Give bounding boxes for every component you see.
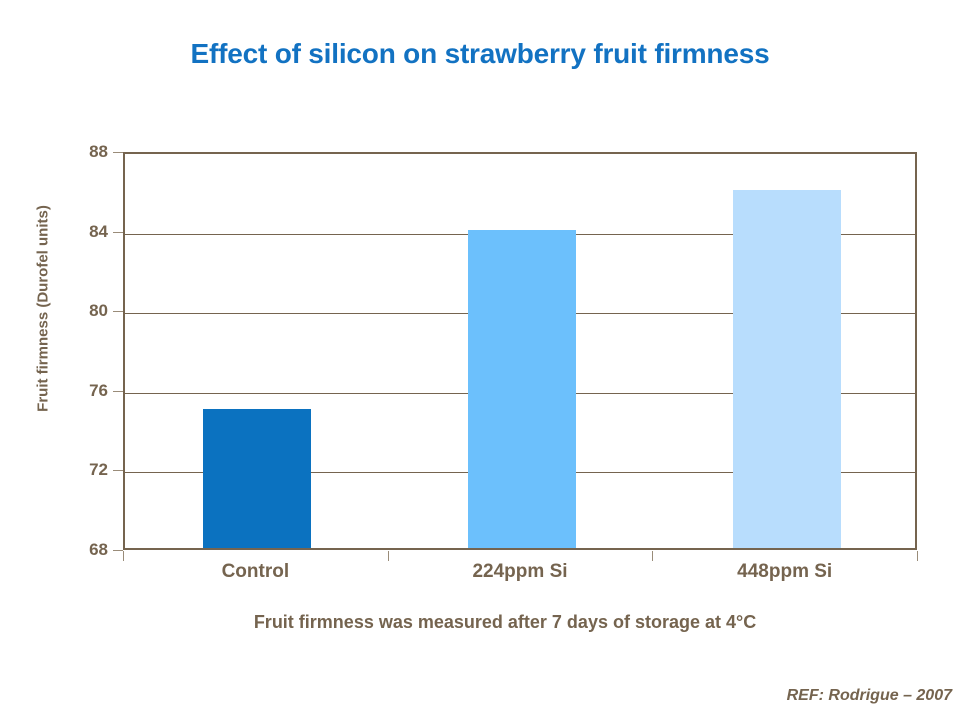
y-axis-tick-labels: 888480767268 [30, 152, 108, 550]
plot-area [123, 152, 917, 550]
y-axis-tick-label: 72 [66, 460, 108, 480]
y-axis-tick-mark [113, 391, 123, 392]
page-title: Effect of silicon on strawberry fruit fi… [0, 38, 960, 70]
x-axis-tick-mark [652, 551, 653, 561]
bar-224ppm-si[interactable] [468, 230, 576, 548]
y-axis-tick-label: 80 [66, 301, 108, 321]
x-axis-label-224ppm-si: 224ppm Si [388, 561, 653, 591]
y-axis-tick-label: 76 [66, 381, 108, 401]
x-axis-label-448ppm-si: 448ppm Si [652, 561, 917, 591]
y-axis-tick-mark [113, 470, 123, 471]
slide-canvas: Effect of silicon on strawberry fruit fi… [0, 0, 960, 720]
y-axis-tick-label: 68 [66, 540, 108, 560]
y-axis-tick-label: 84 [66, 222, 108, 242]
y-axis-tick-mark [113, 311, 123, 312]
bar-control[interactable] [203, 409, 311, 548]
x-axis-tick-mark [388, 551, 389, 561]
y-axis-tick-mark [113, 152, 123, 153]
bar-448ppm-si[interactable] [733, 190, 841, 548]
x-axis-tick-mark [123, 551, 124, 561]
x-axis-category-labels: Control224ppm Si448ppm Si [123, 561, 917, 591]
y-axis-tick-mark [113, 232, 123, 233]
x-axis-label-control: Control [123, 561, 388, 591]
y-axis-tick-mark [113, 550, 123, 551]
y-axis-tick-label: 88 [66, 142, 108, 162]
reference-citation: REF: Rodrigue – 2007 [0, 687, 960, 705]
x-axis-tick-mark [917, 551, 918, 561]
chart-caption: Fruit firmness was measured after 7 days… [0, 612, 960, 633]
